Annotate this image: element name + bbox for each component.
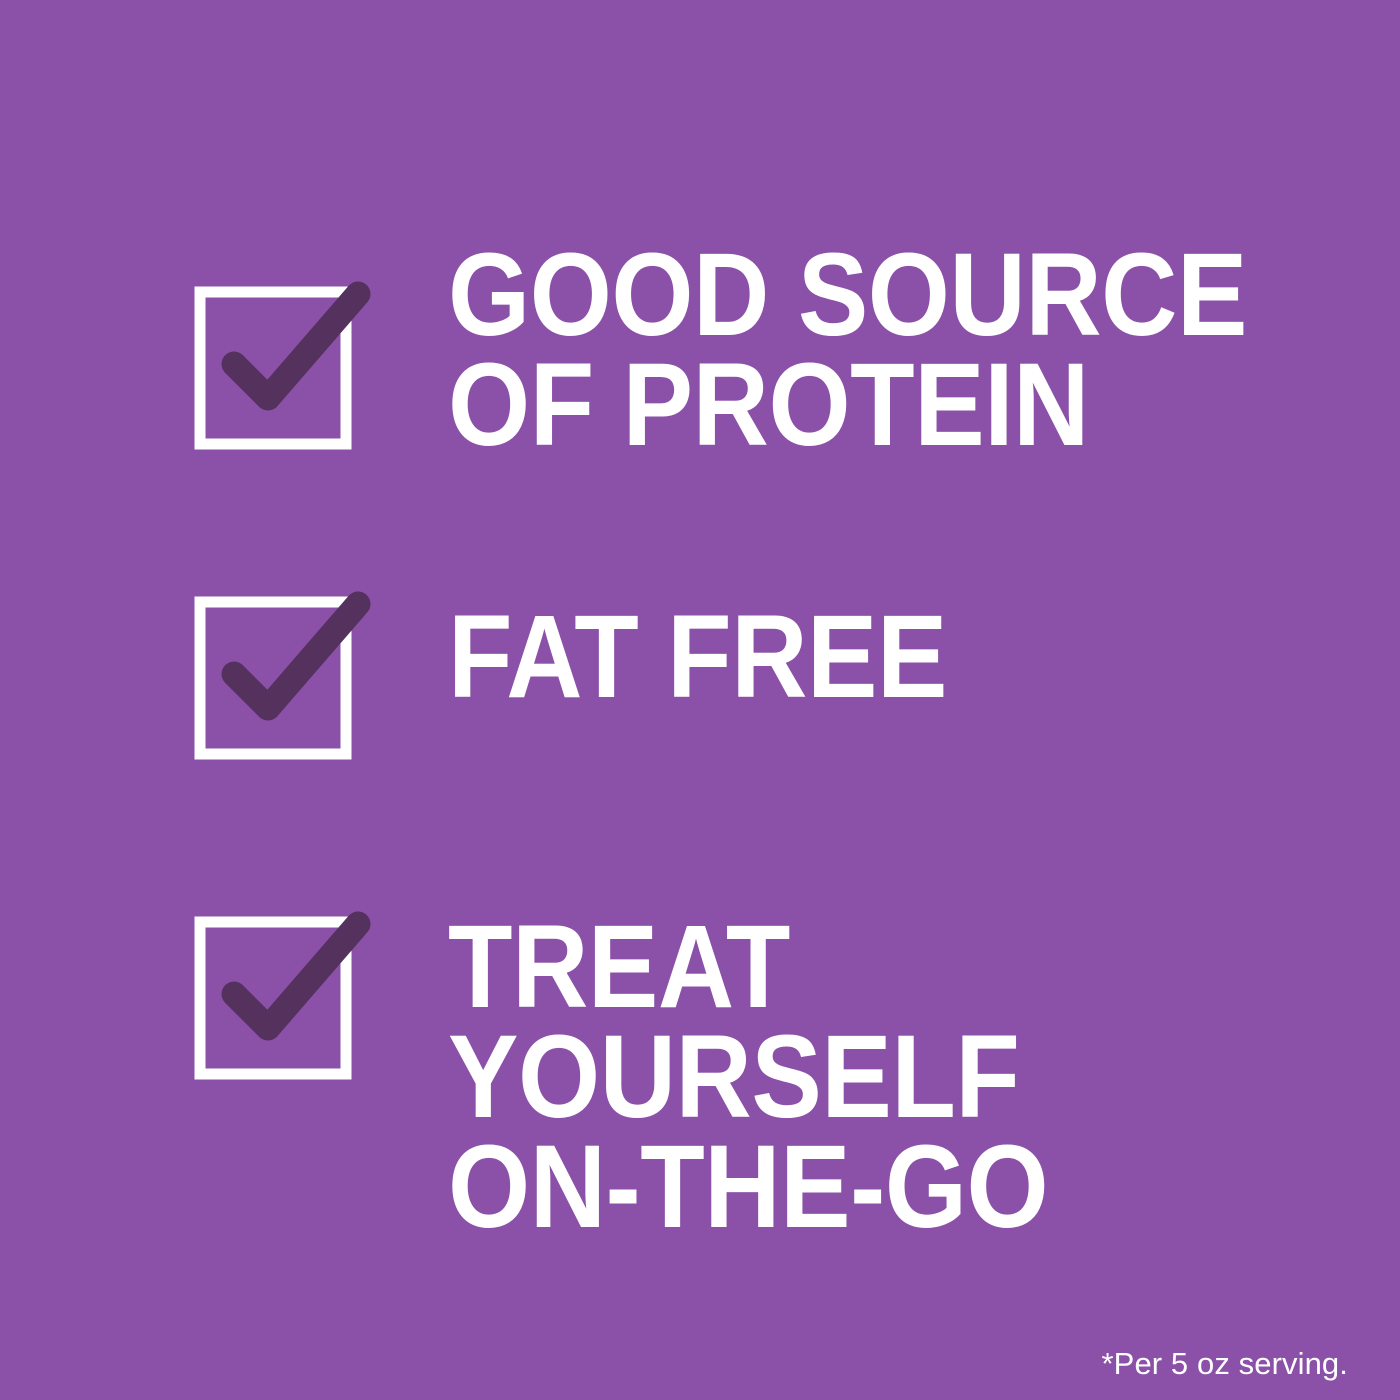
benefit-label: GOOD SOURCE OF PROTEIN — [448, 240, 1247, 460]
checked-checkbox-icon — [186, 280, 376, 470]
checked-checkbox-icon — [186, 590, 376, 780]
benefits-poster: GOOD SOURCE OF PROTEIN FAT FREE TREAT YO… — [0, 0, 1400, 1400]
benefit-label: FAT FREE — [448, 602, 947, 712]
footnote-disclaimer: *Per 5 oz serving. — [1102, 1346, 1348, 1382]
benefit-label: TREAT YOURSELF ON-THE-GO — [448, 912, 1300, 1242]
checked-checkbox-icon — [186, 910, 376, 1100]
